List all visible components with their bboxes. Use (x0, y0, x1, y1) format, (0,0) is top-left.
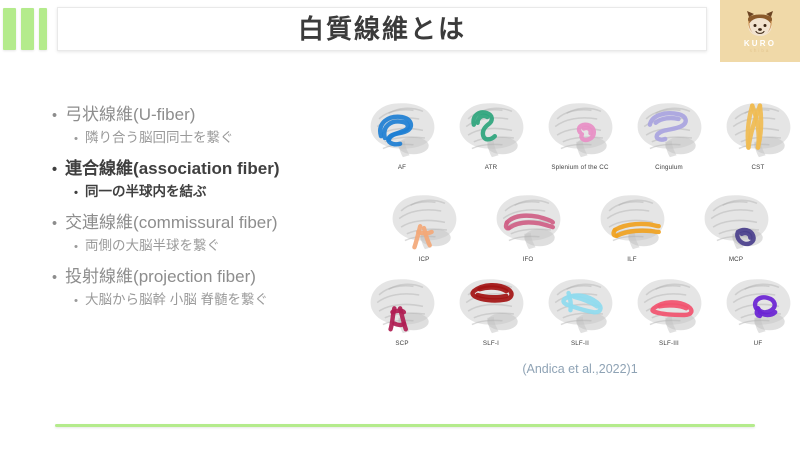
brain-cell-slf-ii: SLF-II (538, 270, 622, 347)
brain-cell-label: MCP (729, 256, 743, 263)
bullet-dot-icon: • (52, 163, 57, 177)
brain-silhouette-icon (716, 94, 800, 163)
accent-bar-1 (3, 8, 16, 50)
brain-cell-label: ICP (419, 256, 430, 263)
bullet-secondary-label: 同一の半球内を結ぶ (85, 183, 207, 201)
bullet-dot-icon: • (52, 109, 57, 123)
page-title: 白質線維とは (298, 16, 466, 42)
bullet-primary-label: 交連線維(commissural fiber) (65, 212, 278, 234)
bullet-item-secondary: • 両側の大脳半球を繋ぐ (74, 237, 352, 255)
brain-silhouette-icon (360, 270, 444, 339)
brain-row-1: AFATRSplenium of the CCCingulumCST (360, 94, 800, 186)
brain-cell-af: AF (360, 94, 444, 171)
bullet-item-primary: • 投射線維(projection fiber) (52, 266, 352, 288)
brain-cell-label: SLF-II (571, 340, 589, 347)
bullet-group-2: • 連合線維(association fiber) • 同一の半球内を結ぶ (52, 158, 352, 201)
brain-cell-slf-i: SLF-I (449, 270, 533, 347)
brain-silhouette-icon (449, 270, 533, 339)
brain-cell-splenium-of-the-cc: Splenium of the CC (538, 94, 622, 171)
brain-cell-label: ATR (485, 164, 498, 171)
brain-cell-scp: SCP (360, 270, 444, 347)
brain-row-2: ICPIFOILFMCP (360, 186, 800, 270)
brain-cell-icp: ICP (382, 186, 466, 263)
bullet-secondary-label: 隣り合う脳回同士を繋ぐ (85, 129, 234, 147)
shiba-dog-icon (743, 9, 777, 39)
brain-cell-label: CST (752, 164, 765, 171)
brain-cell-mcp: MCP (694, 186, 778, 263)
bullet-group-4: • 投射線維(projection fiber) • 大脳から脳幹 小脳 脊髄を… (52, 266, 352, 309)
brain-silhouette-icon (360, 94, 444, 163)
bullet-primary-label: 弓状線維(U-fiber) (65, 104, 195, 126)
bullet-item-primary: • 連合線維(association fiber) (52, 158, 352, 180)
bullet-dot-icon: • (74, 242, 78, 253)
brain-cell-atr: ATR (449, 94, 533, 171)
bullet-list: • 弓状線維(U-fiber) • 隣り合う脳回同士を繋ぐ • 連合線維(ass… (52, 104, 352, 320)
bullet-primary-label: 連合線維(association fiber) (65, 158, 279, 180)
bullet-dot-icon: • (52, 271, 57, 285)
brain-cell-label: IFO (523, 256, 534, 263)
bullet-item-secondary: • 隣り合う脳回同士を繋ぐ (74, 129, 352, 147)
brain-cell-label: SCP (395, 340, 408, 347)
bullet-dot-icon: • (74, 188, 78, 199)
brain-cell-label: Splenium of the CC (551, 164, 608, 171)
bullet-dot-icon: • (74, 134, 78, 145)
accent-bar-2 (21, 8, 34, 50)
brain-cell-label: ILF (627, 256, 637, 263)
header-accent-bars (3, 8, 47, 50)
brain-cell-label: Cingulum (655, 164, 683, 171)
brain-cell-slf-iii: SLF-III (627, 270, 711, 347)
bullet-group-3: • 交連線維(commissural fiber) • 両側の大脳半球を繋ぐ (52, 212, 352, 255)
brain-cell-label: SLF-III (659, 340, 679, 347)
brain-silhouette-icon (538, 94, 622, 163)
brain-row-3: SCPSLF-ISLF-IISLF-IIIUF (360, 270, 800, 356)
bullet-item-primary: • 弓状線維(U-fiber) (52, 104, 352, 126)
brain-silhouette-icon (694, 186, 778, 255)
bullet-item-primary: • 交連線維(commissural fiber) (52, 212, 352, 234)
brand-logo-badge[interactable]: KURO shiba (720, 0, 800, 62)
brain-silhouette-icon (538, 270, 622, 339)
brain-silhouette-icon (449, 94, 533, 163)
accent-bar-3 (39, 8, 47, 50)
bullet-dot-icon: • (74, 296, 78, 307)
brain-cell-uf: UF (716, 270, 800, 347)
bullet-secondary-label: 大脳から脳幹 小脳 脊髄を繋ぐ (85, 291, 268, 309)
brain-cell-label: AF (398, 164, 406, 171)
footer-rule (55, 424, 755, 427)
brain-silhouette-icon (627, 94, 711, 163)
bullet-secondary-label: 両側の大脳半球を繋ぐ (85, 237, 220, 255)
slide-header: 白質線維とは KURO shiba (0, 0, 800, 62)
bullet-item-secondary: • 同一の半球内を結ぶ (74, 183, 352, 201)
brain-cell-ifo: IFO (486, 186, 570, 263)
brain-silhouette-icon (590, 186, 674, 255)
brain-cell-label: SLF-I (483, 340, 499, 347)
brain-silhouette-icon (716, 270, 800, 339)
brain-cell-cingulum: Cingulum (627, 94, 711, 171)
brain-cell-label: UF (754, 340, 763, 347)
bullet-item-secondary: • 大脳から脳幹 小脳 脊髄を繋ぐ (74, 291, 352, 309)
brain-cell-cst: CST (716, 94, 800, 171)
figure-citation: (Andica et al.,2022)1 (360, 362, 800, 376)
logo-wordmark: KURO (744, 40, 776, 48)
bullet-dot-icon: • (52, 217, 57, 231)
brain-cell-ilf: ILF (590, 186, 674, 263)
brain-silhouette-icon (382, 186, 466, 255)
brain-silhouette-icon (486, 186, 570, 255)
logo-subtext: shiba (750, 49, 771, 54)
brain-tract-figure: AFATRSplenium of the CCCingulumCST ICPIF… (360, 94, 800, 394)
bullet-group-1: • 弓状線維(U-fiber) • 隣り合う脳回同士を繋ぐ (52, 104, 352, 147)
title-box: 白質線維とは (57, 7, 707, 51)
brain-silhouette-icon (627, 270, 711, 339)
bullet-primary-label: 投射線維(projection fiber) (65, 266, 256, 288)
